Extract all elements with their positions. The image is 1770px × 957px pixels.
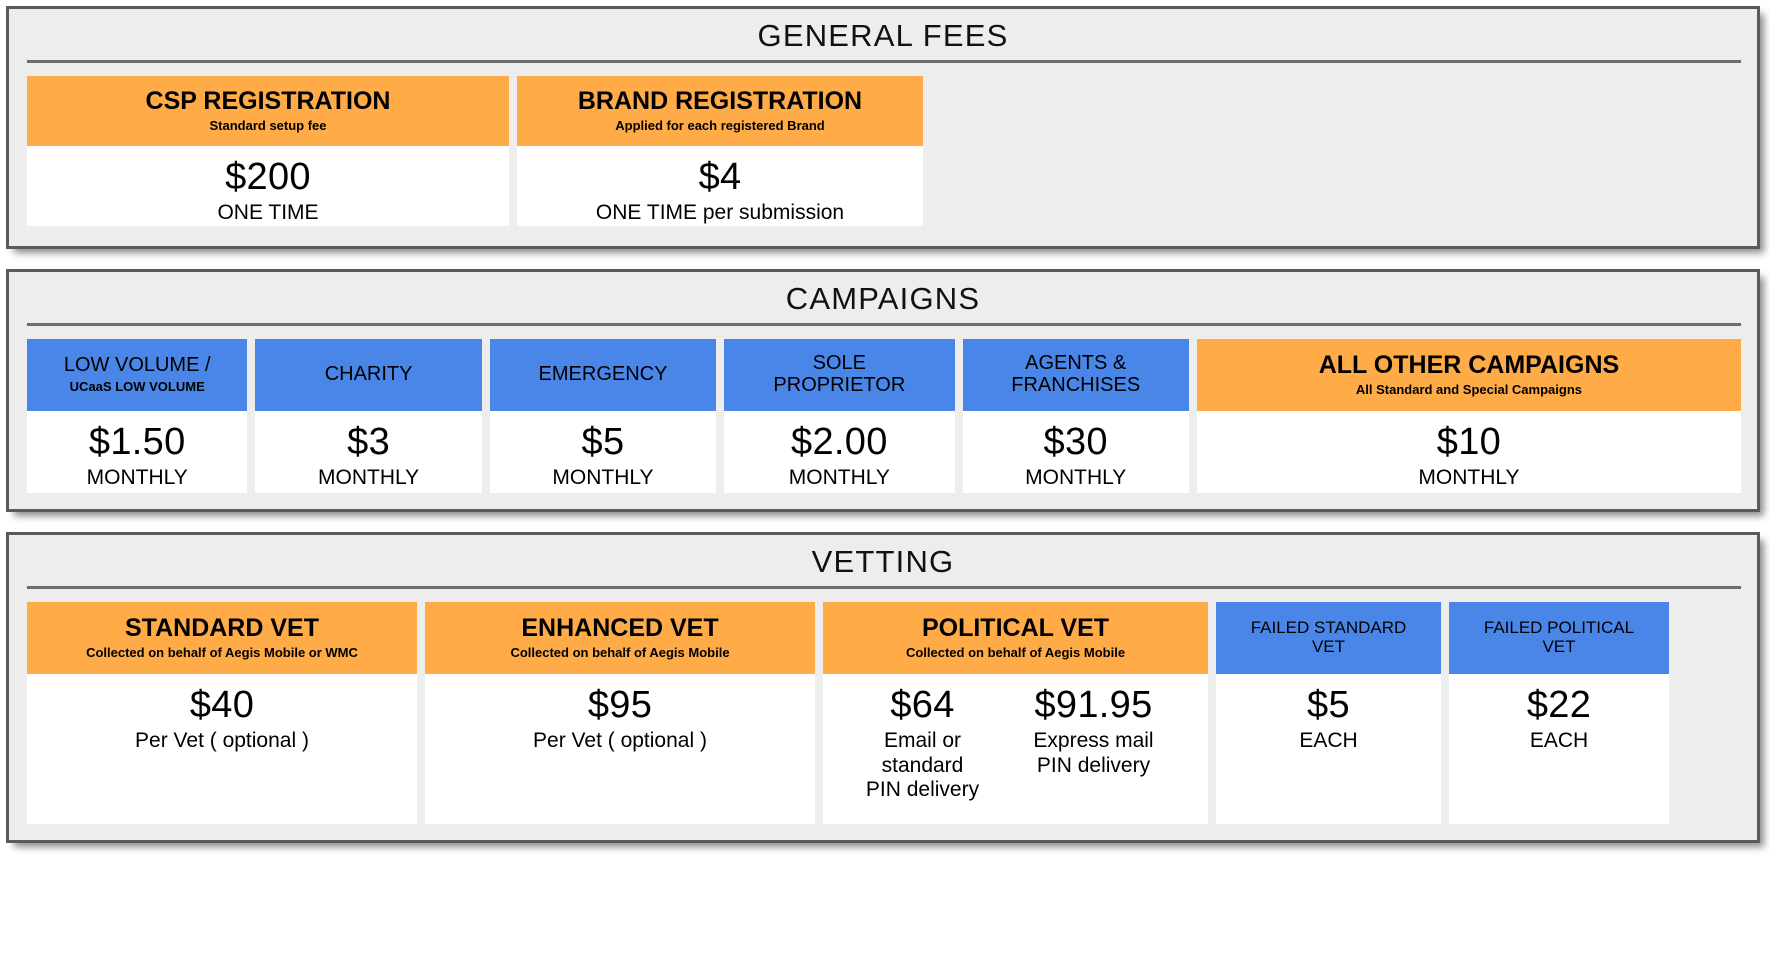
card-subtitle: UCaaS LOW VOLUME xyxy=(70,380,205,394)
price-note: EACH xyxy=(1299,729,1357,754)
card-body: $10 MONTHLY xyxy=(1197,411,1741,493)
card-header: POLITICAL VET Collected on behalf of Aeg… xyxy=(823,602,1208,674)
card-title: ENHANCED VET xyxy=(521,615,718,642)
price-block: $30 MONTHLY xyxy=(1017,423,1134,491)
card-body: $1.50 MONTHLY xyxy=(27,411,247,493)
price-note: MONTHLY xyxy=(552,466,653,491)
general-fees-card-row: CSP REGISTRATION Standard setup fee $200… xyxy=(9,63,1757,240)
price-block: $3 MONTHLY xyxy=(310,423,427,491)
price-block: $5 MONTHLY xyxy=(544,423,661,491)
section-title-campaigns: CAMPAIGNS xyxy=(9,272,1757,323)
price-amount: $1.50 xyxy=(89,423,186,461)
price-block: $5 EACH xyxy=(1291,686,1365,754)
price-block: $1.50 MONTHLY xyxy=(79,423,196,491)
card-title: FAILED STANDARD VET xyxy=(1239,619,1419,656)
price-amount: $200 xyxy=(225,158,311,196)
campaigns-card-row: LOW VOLUME / UCaaS LOW VOLUME $1.50 MONT… xyxy=(9,326,1757,509)
price-block: $22 EACH xyxy=(1519,686,1599,754)
card-header: SOLE PROPRIETOR xyxy=(724,339,954,411)
card-header: ENHANCED VET Collected on behalf of Aegi… xyxy=(425,602,815,674)
card-title: LOW VOLUME / xyxy=(64,355,211,377)
card-body: $22 EACH xyxy=(1449,674,1669,824)
price-block: $40 Per Vet ( optional ) xyxy=(127,686,317,754)
card-header: STANDARD VET Collected on behalf of Aegi… xyxy=(27,602,417,674)
card-subtitle: Collected on behalf of Aegis Mobile xyxy=(510,646,729,660)
card-header: FAILED POLITICAL VET xyxy=(1449,602,1669,674)
card-title: AGENTS & FRANCHISES xyxy=(1006,353,1146,396)
card-brand-registration[interactable]: BRAND REGISTRATION Applied for each regi… xyxy=(517,76,923,226)
card-title: POLITICAL VET xyxy=(922,615,1109,642)
card-subtitle: All Standard and Special Campaigns xyxy=(1356,383,1582,397)
card-all-other-campaigns[interactable]: ALL OTHER CAMPAIGNS All Standard and Spe… xyxy=(1197,339,1741,493)
price-amount: $5 xyxy=(582,423,625,461)
card-title: EMERGENCY xyxy=(539,364,668,386)
card-sole-proprietor[interactable]: SOLE PROPRIETOR $2.00 MONTHLY xyxy=(724,339,954,493)
section-general-fees: GENERAL FEES CSP REGISTRATION Standard s… xyxy=(6,6,1760,249)
card-title: FAILED POLITICAL VET xyxy=(1472,619,1647,656)
card-charity[interactable]: CHARITY $3 MONTHLY xyxy=(255,339,481,493)
price-amount: $2.00 xyxy=(791,423,888,461)
price-note: MONTHLY xyxy=(1025,466,1126,491)
card-standard-vet[interactable]: STANDARD VET Collected on behalf of Aegi… xyxy=(27,602,417,824)
card-emergency[interactable]: EMERGENCY $5 MONTHLY xyxy=(490,339,716,493)
card-failed-standard-vet[interactable]: FAILED STANDARD VET $5 EACH xyxy=(1216,602,1441,824)
price-amount: $40 xyxy=(190,686,254,724)
price-note: Express mail PIN delivery xyxy=(1019,729,1169,778)
price-note: Per Vet ( optional ) xyxy=(135,729,309,754)
card-header: BRAND REGISTRATION Applied for each regi… xyxy=(517,76,923,146)
price-amount: $30 xyxy=(1044,423,1108,461)
price-note: Per Vet ( optional ) xyxy=(533,729,707,754)
price-amount: $4 xyxy=(699,158,742,196)
price-note: Email or standard PIN delivery xyxy=(863,729,983,803)
card-body: $30 MONTHLY xyxy=(963,411,1189,493)
card-body: $5 MONTHLY xyxy=(490,411,716,493)
card-low-volume[interactable]: LOW VOLUME / UCaaS LOW VOLUME $1.50 MONT… xyxy=(27,339,247,493)
pricing-sheet: GENERAL FEES CSP REGISTRATION Standard s… xyxy=(0,0,1770,957)
price-note: MONTHLY xyxy=(789,466,890,491)
card-header: LOW VOLUME / UCaaS LOW VOLUME xyxy=(27,339,247,411)
card-csp-registration[interactable]: CSP REGISTRATION Standard setup fee $200… xyxy=(27,76,509,226)
price-amount: $64 xyxy=(890,686,954,724)
card-title: SOLE PROPRIETOR xyxy=(764,353,914,396)
price-note: MONTHLY xyxy=(318,466,419,491)
card-header: EMERGENCY xyxy=(490,339,716,411)
card-subtitle: Standard setup fee xyxy=(209,119,326,133)
vetting-card-row: STANDARD VET Collected on behalf of Aegi… xyxy=(9,589,1757,840)
price-block: $2.00 MONTHLY xyxy=(781,423,898,491)
section-vetting: VETTING STANDARD VET Collected on behalf… xyxy=(6,532,1760,843)
card-header: CSP REGISTRATION Standard setup fee xyxy=(27,76,509,146)
card-title: CHARITY xyxy=(325,364,413,386)
card-body: $3 MONTHLY xyxy=(255,411,481,493)
card-title: CSP REGISTRATION xyxy=(146,88,391,115)
price-amount: $95 xyxy=(588,686,652,724)
price-note: MONTHLY xyxy=(87,466,188,491)
price-amount: $10 xyxy=(1437,423,1501,461)
price-note: ONE TIME per submission xyxy=(596,201,844,226)
card-title: BRAND REGISTRATION xyxy=(578,88,862,115)
card-header: ALL OTHER CAMPAIGNS All Standard and Spe… xyxy=(1197,339,1741,411)
card-body: $2.00 MONTHLY xyxy=(724,411,954,493)
section-title-vetting: VETTING xyxy=(9,535,1757,586)
price-amount: $91.95 xyxy=(1034,686,1152,724)
price-block-email: $64 Email or standard PIN delivery xyxy=(855,686,991,803)
price-amount: $22 xyxy=(1527,686,1591,724)
price-block-express: $91.95 Express mail PIN delivery xyxy=(1011,686,1177,778)
card-header: AGENTS & FRANCHISES xyxy=(963,339,1189,411)
card-subtitle: Applied for each registered Brand xyxy=(615,119,825,133)
card-header: FAILED STANDARD VET xyxy=(1216,602,1441,674)
card-political-vet[interactable]: POLITICAL VET Collected on behalf of Aeg… xyxy=(823,602,1208,824)
card-agents-franchises[interactable]: AGENTS & FRANCHISES $30 MONTHLY xyxy=(963,339,1189,493)
card-failed-political-vet[interactable]: FAILED POLITICAL VET $22 EACH xyxy=(1449,602,1669,824)
card-title: STANDARD VET xyxy=(125,615,319,642)
card-body: $4 ONE TIME per submission xyxy=(517,146,923,226)
price-block: $10 MONTHLY xyxy=(1410,423,1527,491)
card-body: $64 Email or standard PIN delivery $91.9… xyxy=(823,674,1208,824)
card-subtitle: Collected on behalf of Aegis Mobile or W… xyxy=(86,646,358,660)
price-note: MONTHLY xyxy=(1418,466,1519,491)
price-block: $4 ONE TIME per submission xyxy=(588,158,852,226)
card-title: ALL OTHER CAMPAIGNS xyxy=(1319,352,1619,379)
card-body: $200 ONE TIME xyxy=(27,146,509,226)
card-subtitle: Collected on behalf of Aegis Mobile xyxy=(906,646,1125,660)
section-title-general-fees: GENERAL FEES xyxy=(9,9,1757,60)
price-note: ONE TIME xyxy=(217,201,318,226)
card-body: $95 Per Vet ( optional ) xyxy=(425,674,815,824)
price-note: EACH xyxy=(1530,729,1588,754)
price-block: $200 ONE TIME xyxy=(209,158,326,226)
card-body: $40 Per Vet ( optional ) xyxy=(27,674,417,824)
section-campaigns: CAMPAIGNS LOW VOLUME / UCaaS LOW VOLUME … xyxy=(6,269,1760,512)
price-amount: $3 xyxy=(347,423,390,461)
price-block: $95 Per Vet ( optional ) xyxy=(525,686,715,754)
price-amount: $5 xyxy=(1307,686,1350,724)
card-enhanced-vet[interactable]: ENHANCED VET Collected on behalf of Aegi… xyxy=(425,602,815,824)
card-header: CHARITY xyxy=(255,339,481,411)
card-body: $5 EACH xyxy=(1216,674,1441,824)
